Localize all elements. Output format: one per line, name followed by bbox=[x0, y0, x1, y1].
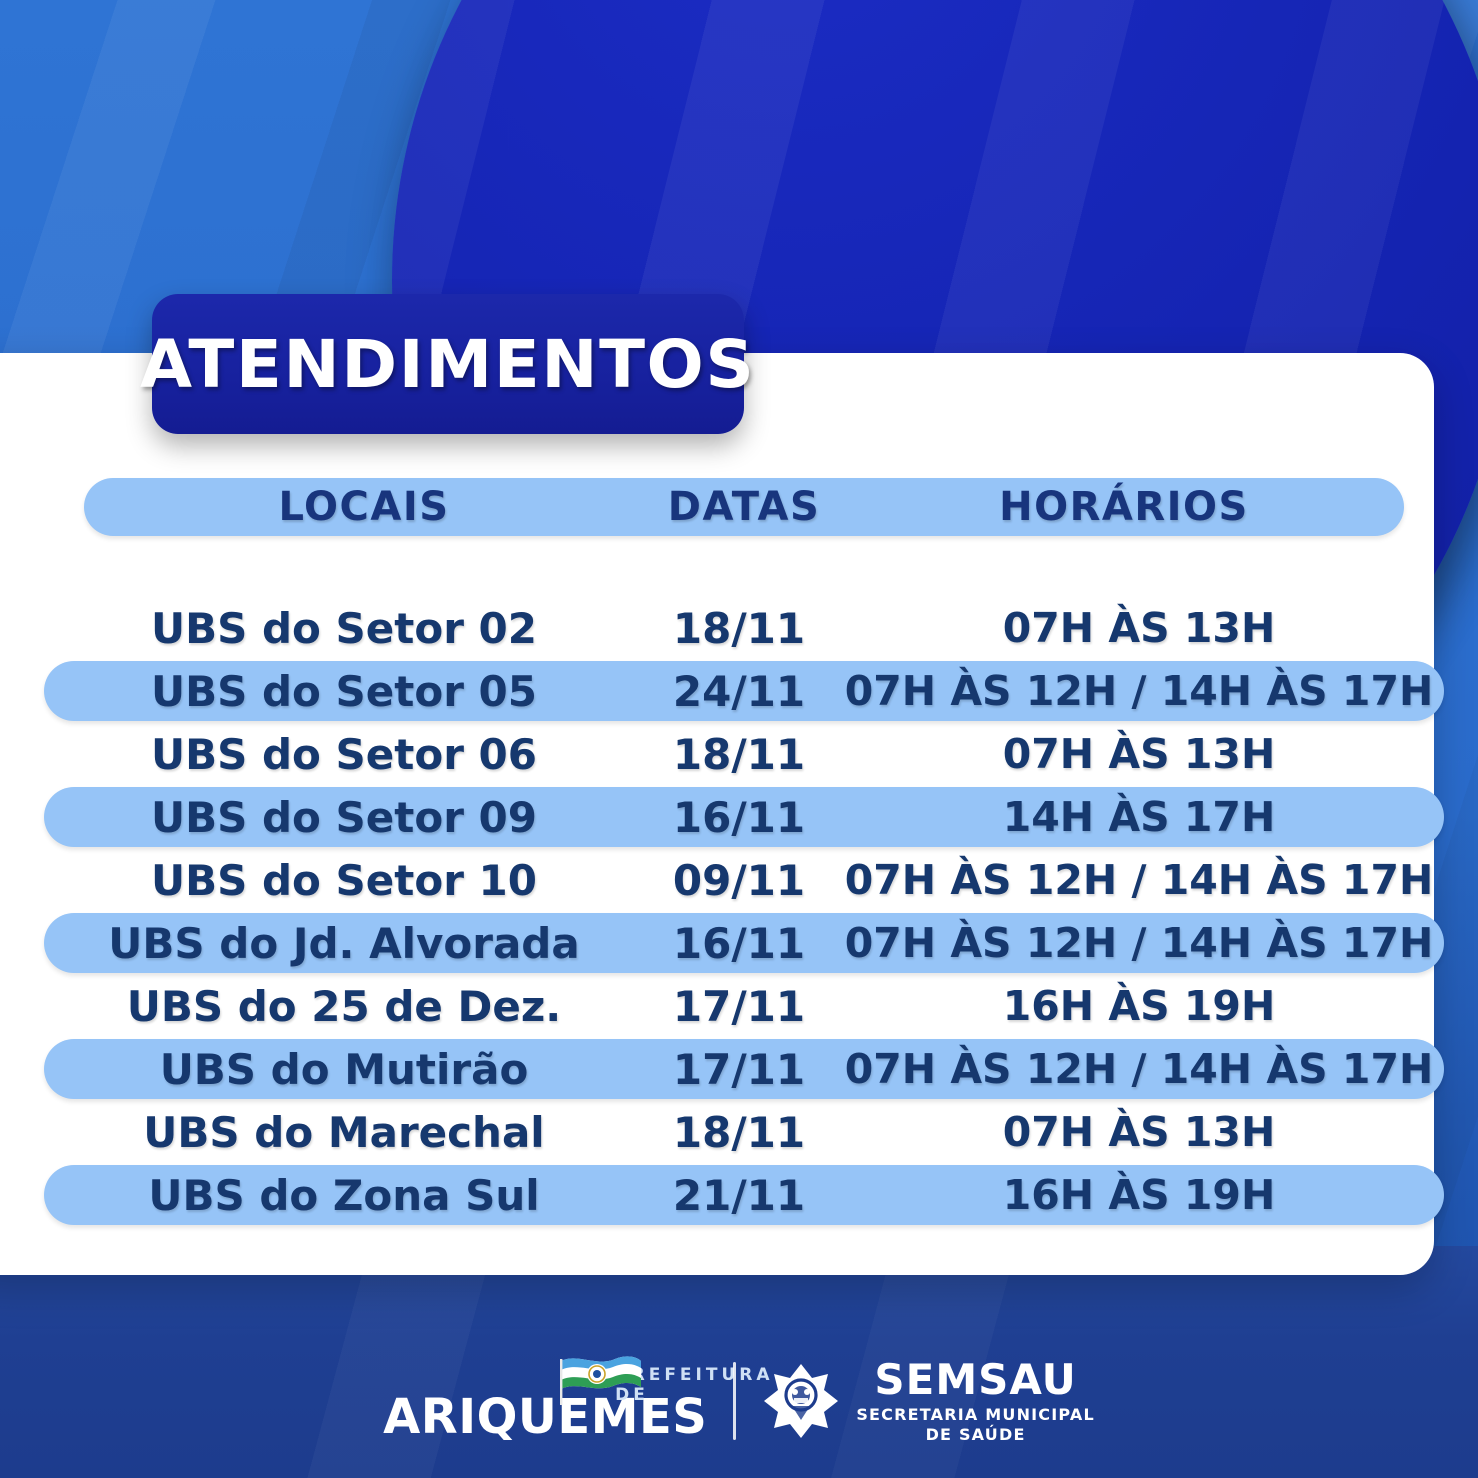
table-row: UBS do Setor 02 18/11 07H ÀS 13H bbox=[44, 598, 1444, 658]
cell-data: 17/11 bbox=[644, 982, 834, 1031]
prefeitura-logo: PREFEITURA DE ARIQUEMES bbox=[383, 1359, 707, 1443]
cell-data: 18/11 bbox=[644, 730, 834, 779]
table-row: UBS do Jd. Alvorada 16/11 07H ÀS 12H / 1… bbox=[44, 913, 1444, 973]
table-row: UBS do Zona Sul 21/11 16H ÀS 19H bbox=[44, 1165, 1444, 1225]
table-row: UBS do Setor 05 24/11 07H ÀS 12H / 14H À… bbox=[44, 661, 1444, 721]
cell-local: UBS do Setor 10 bbox=[44, 856, 644, 905]
cell-local: UBS do Mutirão bbox=[44, 1045, 644, 1094]
cell-horario: 07H ÀS 12H / 14H ÀS 17H bbox=[834, 919, 1444, 967]
table-row: UBS do Setor 09 16/11 14H ÀS 17H bbox=[44, 787, 1444, 847]
cell-data: 24/11 bbox=[644, 667, 834, 716]
page-title: ATENDIMENTOS bbox=[140, 326, 755, 403]
semsau-emblem-icon bbox=[762, 1362, 840, 1440]
footer-logos: PREFEITURA DE ARIQUEMES bbox=[0, 1346, 1478, 1456]
semsau-text-block: SEMSAU SECRETARIA MUNICIPAL DE SAÚDE bbox=[856, 1359, 1095, 1443]
cell-data: 16/11 bbox=[644, 919, 834, 968]
poster-canvas: ATENDIMENTOS LOCAIS DATAS HORÁRIOS UBS d… bbox=[0, 0, 1478, 1478]
ariquemes-flag-icon bbox=[559, 1353, 643, 1405]
table-row: UBS do Mutirão 17/11 07H ÀS 12H / 14H ÀS… bbox=[44, 1039, 1444, 1099]
cell-local: UBS do Jd. Alvorada bbox=[44, 919, 644, 968]
cell-local: UBS do Setor 02 bbox=[44, 604, 644, 653]
semsau-line-one: SECRETARIA MUNICIPAL bbox=[856, 1407, 1095, 1423]
cell-local: UBS do 25 de Dez. bbox=[44, 982, 644, 1031]
cell-horario: 07H ÀS 12H / 14H ÀS 17H bbox=[834, 856, 1444, 904]
cell-horario: 14H ÀS 17H bbox=[834, 793, 1444, 841]
cell-local: UBS do Setor 06 bbox=[44, 730, 644, 779]
cell-horario: 16H ÀS 19H bbox=[834, 982, 1444, 1030]
column-header-datas: DATAS bbox=[644, 484, 844, 530]
footer-divider bbox=[733, 1362, 736, 1440]
cell-data: 09/11 bbox=[644, 856, 834, 905]
cell-data: 16/11 bbox=[644, 793, 834, 842]
cell-local: UBS do Marechal bbox=[44, 1108, 644, 1157]
title-banner: ATENDIMENTOS bbox=[152, 294, 744, 434]
table-row: UBS do Marechal 18/11 07H ÀS 13H bbox=[44, 1102, 1444, 1162]
column-header-horarios: HORÁRIOS bbox=[844, 484, 1404, 530]
table-row: UBS do Setor 06 18/11 07H ÀS 13H bbox=[44, 724, 1444, 784]
cell-data: 18/11 bbox=[644, 1108, 834, 1157]
cell-data: 21/11 bbox=[644, 1171, 834, 1220]
semsau-logo: SEMSAU SECRETARIA MUNICIPAL DE SAÚDE bbox=[762, 1359, 1095, 1443]
cell-data: 18/11 bbox=[644, 604, 834, 653]
cell-horario: 07H ÀS 13H bbox=[834, 1108, 1444, 1156]
cell-horario: 07H ÀS 12H / 14H ÀS 17H bbox=[834, 667, 1444, 715]
semsau-line-two: DE SAÚDE bbox=[926, 1427, 1026, 1443]
cell-horario: 07H ÀS 13H bbox=[834, 604, 1444, 652]
cell-data: 17/11 bbox=[644, 1045, 834, 1094]
schedule-table: LOCAIS DATAS HORÁRIOS UBS do Setor 02 18… bbox=[0, 478, 1478, 1228]
table-header-row: LOCAIS DATAS HORÁRIOS bbox=[84, 478, 1404, 536]
cell-horario: 07H ÀS 12H / 14H ÀS 17H bbox=[834, 1045, 1444, 1093]
column-header-locais: LOCAIS bbox=[84, 484, 644, 530]
table-row: UBS do Setor 10 09/11 07H ÀS 12H / 14H À… bbox=[44, 850, 1444, 910]
cell-horario: 16H ÀS 19H bbox=[834, 1171, 1444, 1219]
cell-local: UBS do Zona Sul bbox=[44, 1171, 644, 1220]
cell-local: UBS do Setor 09 bbox=[44, 793, 644, 842]
semsau-acronym: SEMSAU bbox=[874, 1359, 1076, 1401]
table-row: UBS do 25 de Dez. 17/11 16H ÀS 19H bbox=[44, 976, 1444, 1036]
cell-horario: 07H ÀS 13H bbox=[834, 730, 1444, 778]
cell-local: UBS do Setor 05 bbox=[44, 667, 644, 716]
